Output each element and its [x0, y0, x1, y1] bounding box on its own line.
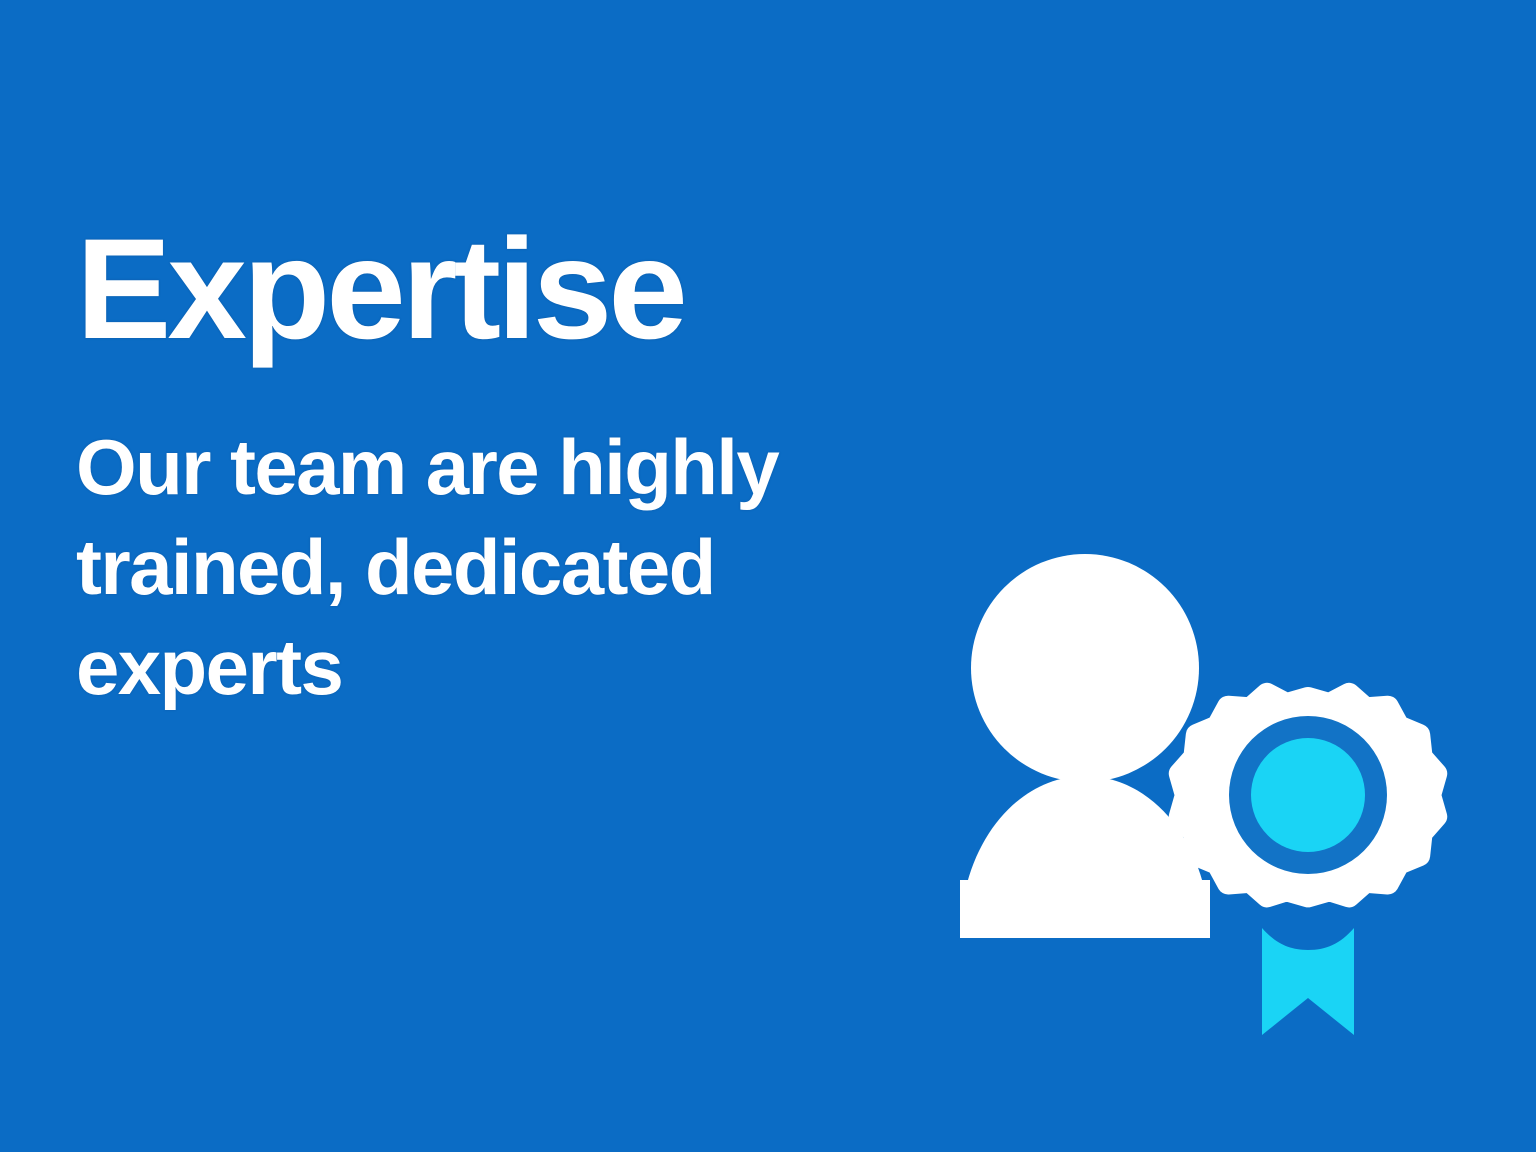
- award-badge-icon: [1180, 694, 1436, 897]
- slide-canvas: Expertise Our team are highly trained, d…: [0, 0, 1536, 1152]
- person-body-base: [960, 880, 1210, 938]
- person-head-icon: [971, 554, 1199, 782]
- award-ribbon-icon: [1262, 928, 1354, 1035]
- subtitle-text: Our team are highly trained, dedicated e…: [76, 417, 906, 717]
- expert-person-award-icon: [930, 520, 1460, 1060]
- text-block: Expertise Our team are highly trained, d…: [76, 218, 956, 717]
- badge-center-shape: [1251, 738, 1365, 852]
- person-silhouette-shape: [960, 554, 1210, 938]
- page-title: Expertise: [76, 218, 956, 361]
